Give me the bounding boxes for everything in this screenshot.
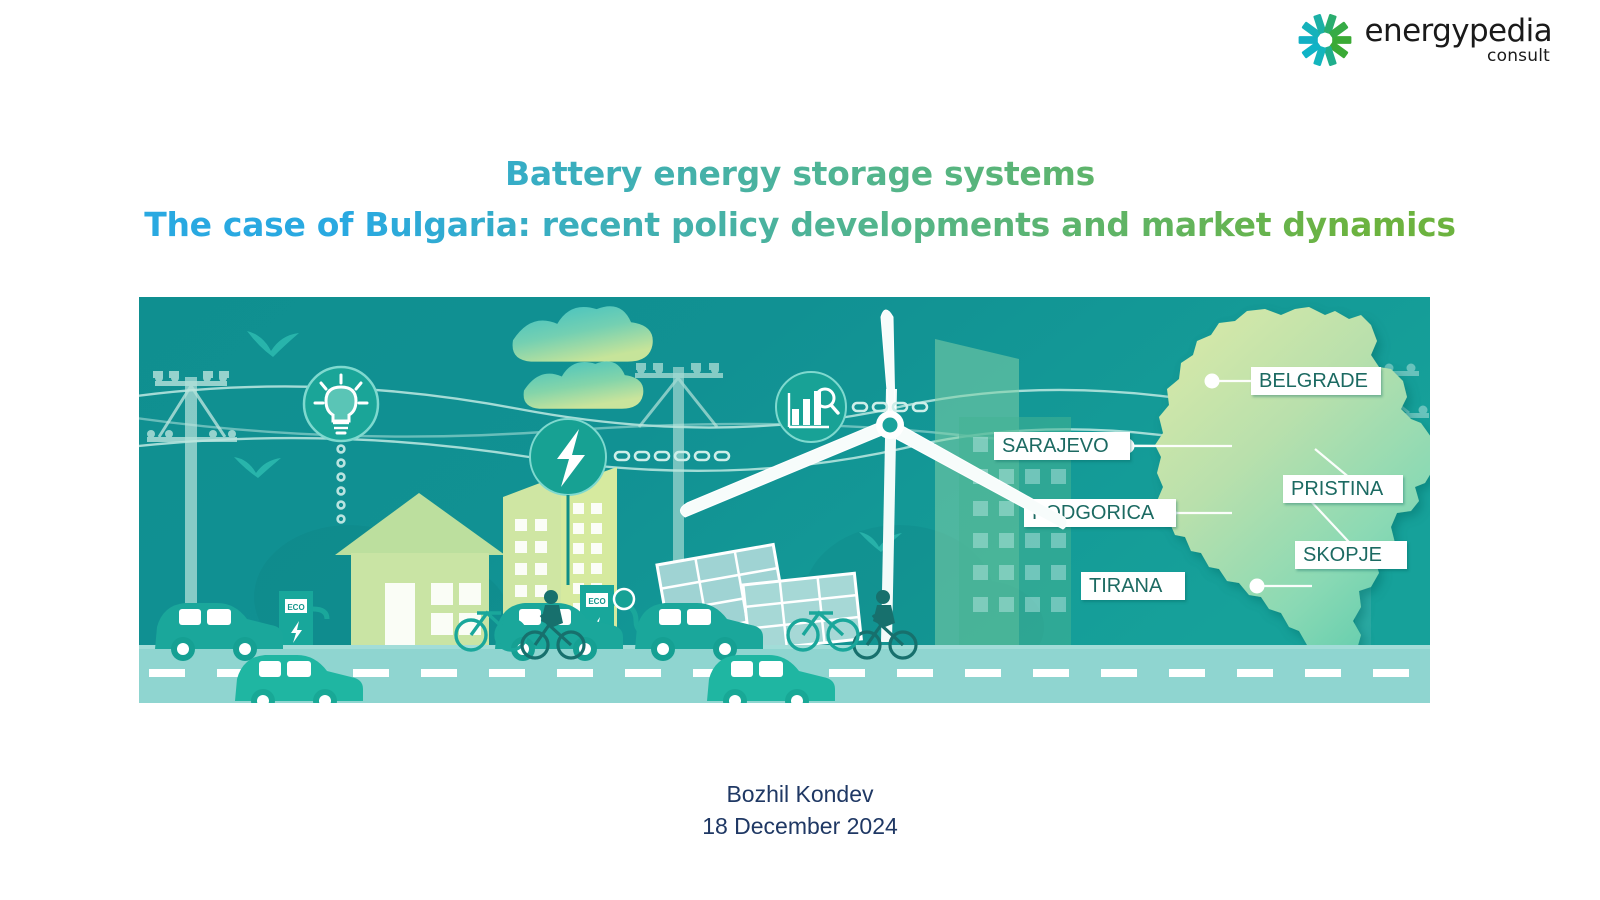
map-pin-tirana [1250,579,1265,594]
title-block: Battery energy storage systems The case … [0,150,1600,250]
brand-subtitle: consult [1487,48,1550,65]
brand-wordmark: energypedia consult [1365,16,1552,65]
map-pin-belgrade [1205,374,1220,389]
hero-illustration: BELGRADE SARAJEVO PODGORICA PRISTINA SKO… [139,297,1430,703]
svg-text:PRISTINA: PRISTINA [1291,478,1384,500]
brand-logo: energypedia consult [1295,10,1552,70]
author-name: Bozhil Kondev [0,778,1600,810]
energypedia-starburst-icon [1295,10,1355,70]
map-label-tirana: TIRANA [1081,572,1185,600]
illustration-canvas: BELGRADE SARAJEVO PODGORICA PRISTINA SKO… [139,297,1430,703]
map-label-skopje: SKOPJE [1295,541,1407,569]
footer-block: Bozhil Kondev 18 December 2024 [0,778,1600,842]
svg-text:ECO: ECO [287,603,304,612]
svg-text:SARAJEVO: SARAJEVO [1002,435,1109,457]
map-label-sarajevo: SARAJEVO [994,432,1130,460]
svg-text:ECO: ECO [588,597,605,606]
brand-name: energypedia [1365,16,1552,47]
svg-text:TIRANA: TIRANA [1089,575,1163,597]
page-subtitle: The case of Bulgaria: recent policy deve… [0,200,1600,250]
svg-text:BELGRADE: BELGRADE [1259,370,1368,392]
presentation-date: 18 December 2024 [0,810,1600,842]
map-label-belgrade: BELGRADE [1251,367,1381,395]
svg-text:SKOPJE: SKOPJE [1303,544,1382,566]
map-label-pristina: PRISTINA [1283,475,1403,503]
page-title: Battery energy storage systems [0,150,1600,198]
